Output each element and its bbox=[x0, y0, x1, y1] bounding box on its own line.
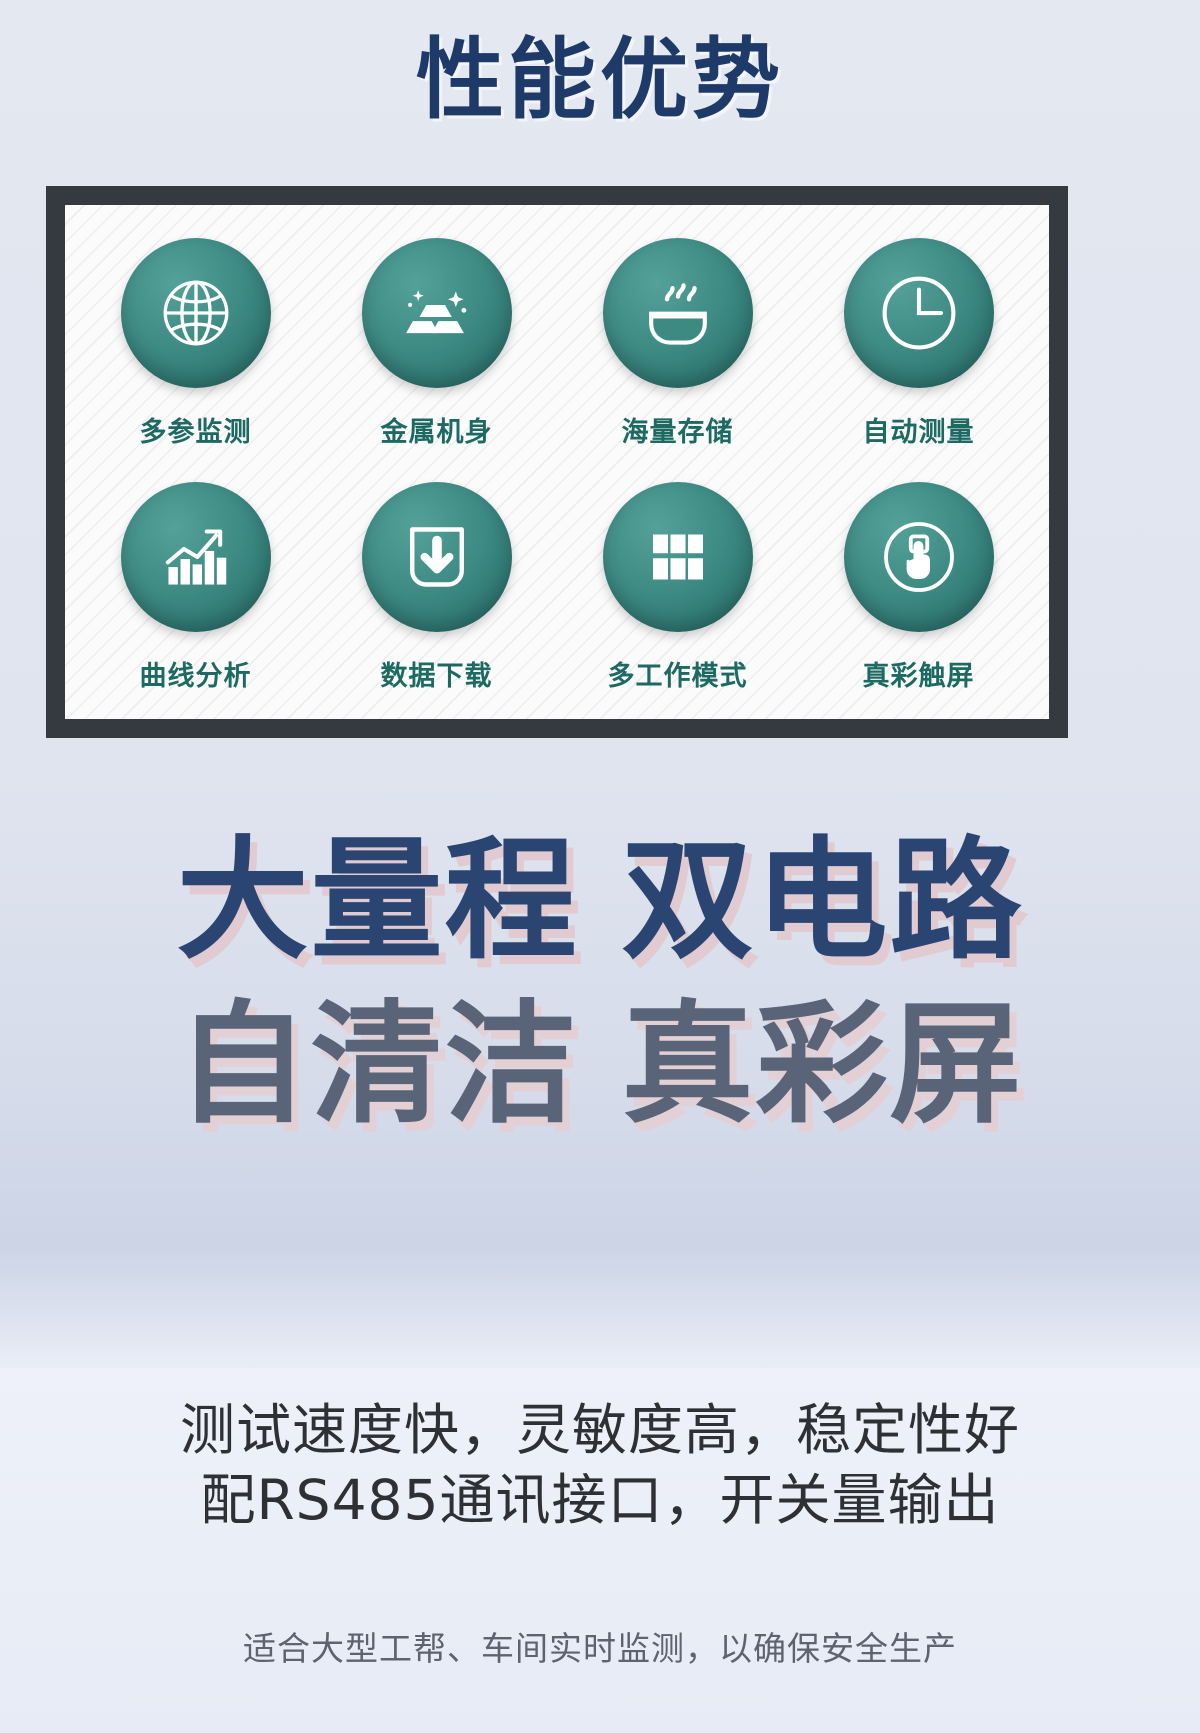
promo-page: 性能优势 多参监测 bbox=[0, 0, 1200, 1733]
feature-label: 自动测量 bbox=[863, 410, 975, 449]
globe-icon bbox=[121, 238, 271, 388]
touch-screen-icon bbox=[844, 482, 994, 632]
headline-line2-left: 自清洁 bbox=[177, 992, 579, 1140]
feature-label: 多参监测 bbox=[140, 410, 252, 449]
headline-line1-left: 大量程 bbox=[177, 828, 579, 976]
bar-chart-growth-icon bbox=[121, 482, 271, 632]
feature-label: 海量存储 bbox=[622, 410, 734, 449]
feature-row-2: 曲线分析 数据下载 bbox=[75, 482, 1039, 693]
page-title-wrap: 性能优势 bbox=[0, 36, 1200, 124]
headline-line-2: 自清洁 真彩屏 bbox=[0, 992, 1200, 1140]
steam-pot-icon bbox=[603, 238, 753, 388]
feature-item-metal-body[interactable]: 金属机身 bbox=[331, 238, 543, 449]
feature-label: 真彩触屏 bbox=[863, 654, 975, 693]
feature-item-data-download[interactable]: 数据下载 bbox=[331, 482, 543, 693]
feature-item-auto-measure[interactable]: 自动测量 bbox=[813, 238, 1025, 449]
subnote: 适合大型工帮、车间实时监测，以确保安全生产 bbox=[0, 1622, 1200, 1670]
feature-label: 金属机身 bbox=[381, 410, 493, 449]
feature-label: 曲线分析 bbox=[140, 654, 252, 693]
feature-item-mass-storage[interactable]: 海量存储 bbox=[572, 238, 784, 449]
metal-ingots-icon bbox=[362, 238, 512, 388]
feature-item-touch-screen[interactable]: 真彩触屏 bbox=[813, 482, 1025, 693]
feature-item-curve-analysis[interactable]: 曲线分析 bbox=[90, 482, 302, 693]
headline-line1-right: 双电路 bbox=[621, 828, 1023, 976]
grid-modes-icon bbox=[603, 482, 753, 632]
clock-icon bbox=[844, 238, 994, 388]
feature-panel-inner: 多参监测 金属机身 bbox=[65, 205, 1049, 719]
feature-label: 多工作模式 bbox=[608, 654, 748, 693]
feature-row-1: 多参监测 金属机身 bbox=[75, 238, 1039, 449]
feature-item-multi-mode[interactable]: 多工作模式 bbox=[572, 482, 784, 693]
description-line-1: 测试速度快，灵敏度高，稳定性好 bbox=[0, 1398, 1200, 1463]
page-title: 性能优势 bbox=[416, 36, 784, 124]
download-icon bbox=[362, 482, 512, 632]
headline-line2-right: 真彩屏 bbox=[621, 992, 1023, 1140]
description-line-2: 配RS485通讯接口，开关量输出 bbox=[0, 1468, 1200, 1533]
feature-panel: 多参监测 金属机身 bbox=[46, 186, 1068, 738]
feature-item-multi-param[interactable]: 多参监测 bbox=[90, 238, 302, 449]
feature-label: 数据下载 bbox=[381, 654, 493, 693]
headline-line-1: 大量程 双电路 bbox=[0, 828, 1200, 976]
